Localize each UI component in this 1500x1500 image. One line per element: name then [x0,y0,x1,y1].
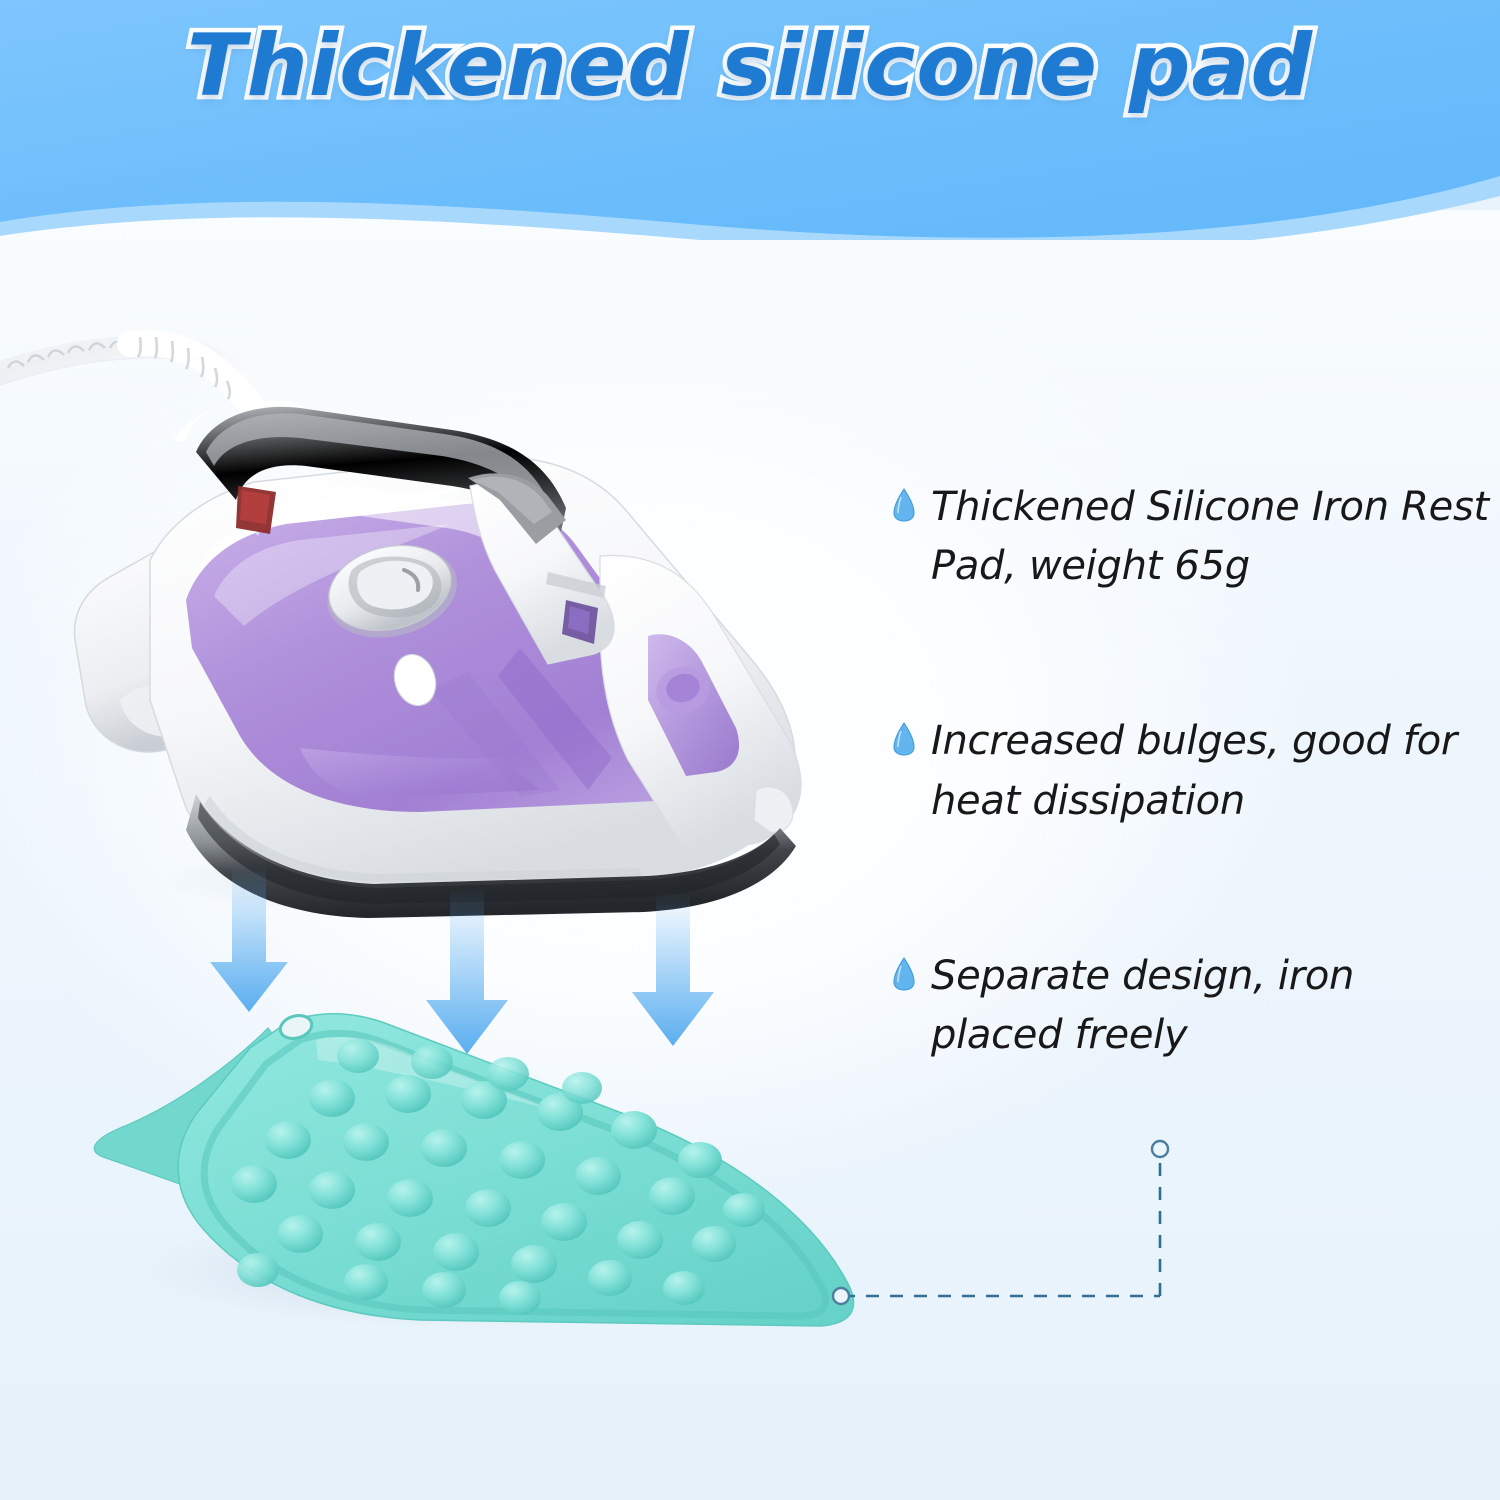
feature-text-2: Increased bulges, good for heat dissipat… [931,712,1493,830]
iron-drop-icon [893,957,915,991]
downward-arrow-3 [632,892,714,1046]
feature-text-3: Separate design, iron placed freely [931,947,1493,1065]
feature-text-1: Thickened Silicone Iron Rest Pad, weight… [931,478,1493,596]
dimension-callout [833,1141,1168,1304]
feature-list: Thickened Silicone Iron Rest Pad, weight… [893,478,1493,1065]
power-cord [0,337,250,404]
infographic-canvas: Thickened silicone pad [0,0,1500,1500]
callout-endpoint-left [833,1288,849,1304]
feature-item-3: Separate design, iron placed freely [893,947,1493,1065]
feature-item-1: Thickened Silicone Iron Rest Pad, weight… [893,478,1493,596]
callout-endpoint-top [1152,1141,1168,1157]
feature-item-2: Increased bulges, good for heat dissipat… [893,712,1493,830]
iron-drop-icon [893,488,915,522]
iron-drop-icon [893,722,915,756]
